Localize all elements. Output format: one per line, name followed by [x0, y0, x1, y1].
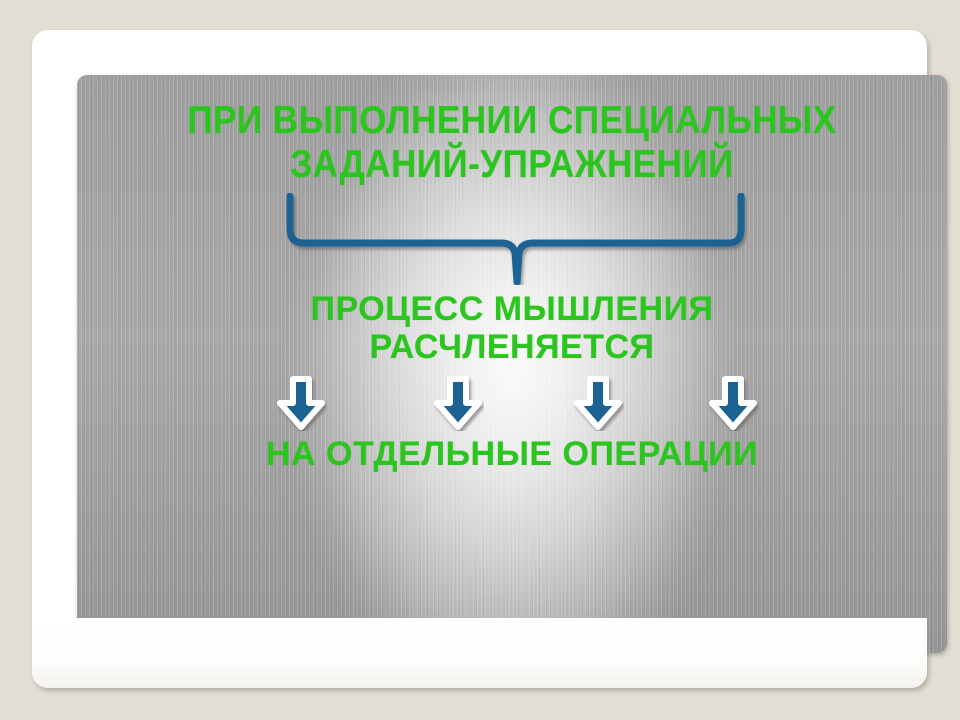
heading-text: ПРИ ВЫПОЛНЕНИИ СПЕЦИАЛЬНЫХ ЗАДАНИЙ-УПРАЖ… [121, 99, 904, 186]
bottom-text: НА ОТДЕЛЬНЫЕ ОПЕРАЦИИ [77, 435, 947, 473]
down-arrow-icon-4 [707, 375, 759, 431]
slide-root: ПРИ ВЫПОЛНЕНИИ СПЕЦИАЛЬНЫХ ЗАДАНИЙ-УПРАЖ… [0, 0, 960, 720]
down-arrow-icon-3 [572, 375, 624, 431]
downward-curly-brace-icon [283, 193, 747, 285]
down-arrow-icon-2 [432, 375, 484, 431]
arrow-row [77, 375, 947, 435]
slide-content-stage: ПРИ ВЫПОЛНЕНИИ СПЕЦИАЛЬНЫХ ЗАДАНИЙ-УПРАЖ… [77, 75, 947, 653]
middle-text: ПРОЦЕСС МЫШЛЕНИЯ РАСЧЛЕНЯЕТСЯ [77, 290, 947, 366]
down-arrow-icon-1 [275, 375, 327, 431]
slide-card: ПРИ ВЫПОЛНЕНИИ СПЕЦИАЛЬНЫХ ЗАДАНИЙ-УПРАЖ… [32, 30, 927, 688]
stage-content: ПРИ ВЫПОЛНЕНИИ СПЕЦИАЛЬНЫХ ЗАДАНИЙ-УПРАЖ… [77, 75, 947, 653]
